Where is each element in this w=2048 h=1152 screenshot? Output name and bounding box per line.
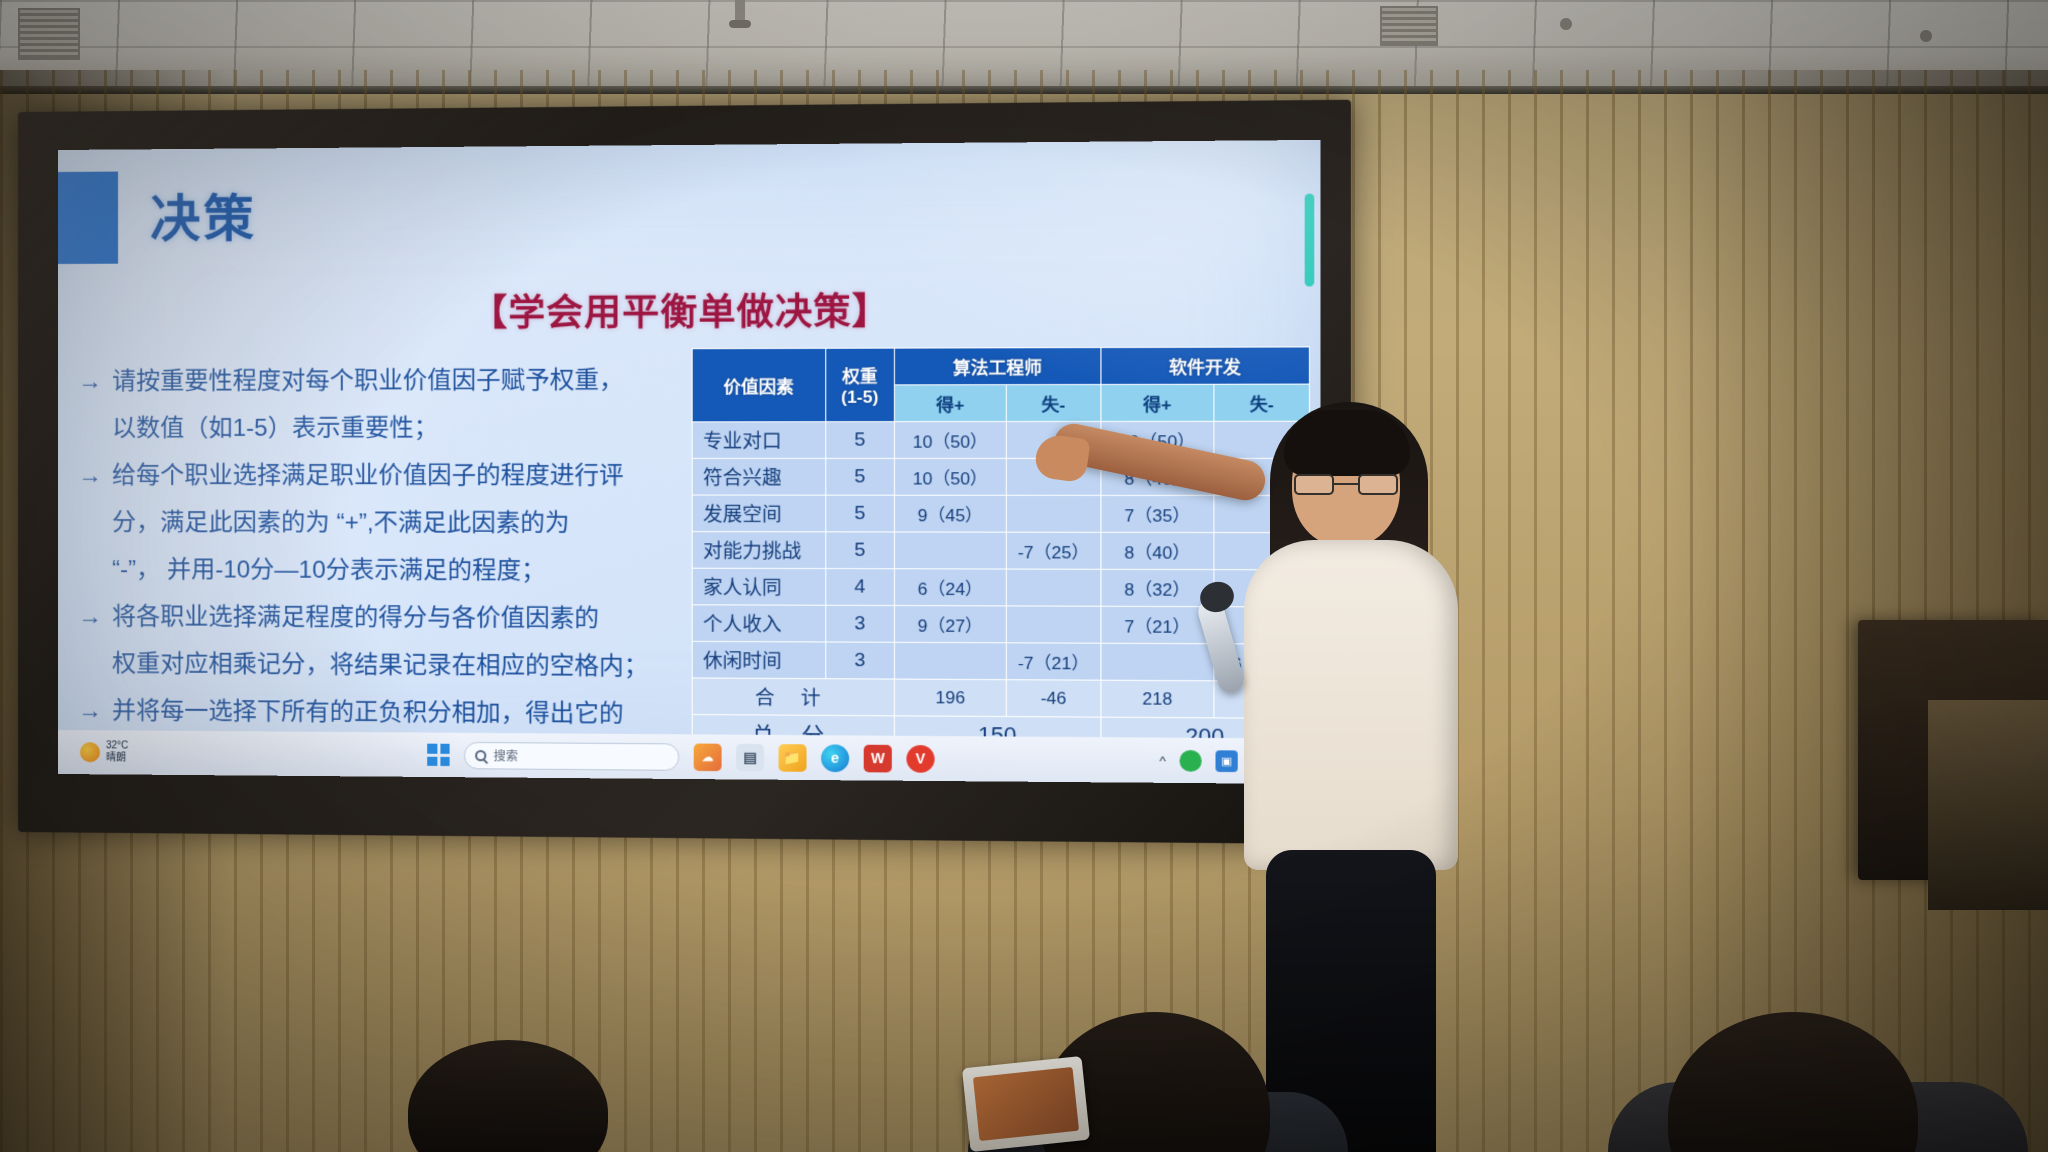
col-subheader-b-gain: 得+ <box>1101 384 1214 421</box>
cell-a-loss: -7（21） <box>1006 643 1101 680</box>
col-header-weight-range: (1-5) <box>826 387 894 408</box>
bullet-line: 以数值（如1-5）表示重要性； <box>78 404 688 452</box>
taskbar-center-group[interactable]: 搜索 ☁ ▤ 📁 e W V <box>427 741 934 772</box>
sprinkler-head <box>735 0 745 26</box>
ceiling-vent <box>18 8 80 60</box>
bullet-line: 给每个职业选择满足职业价值因子的程度进行评 <box>112 452 624 500</box>
side-wall-panel-secondary <box>1928 700 2048 910</box>
col-header-weight-label: 权重 <box>826 362 894 388</box>
ceiling-fixture <box>1920 30 1932 42</box>
cell-weight: 4 <box>825 569 894 606</box>
cell-factor: 家人认同 <box>692 568 825 605</box>
cell-factor: 对能力挑战 <box>692 532 825 569</box>
hair-fringe <box>1284 410 1410 476</box>
ceiling-vent <box>1380 6 1438 46</box>
cell-a-gain <box>894 532 1006 569</box>
cell-a-loss <box>1006 495 1101 532</box>
weather-temperature: 32°C <box>106 740 128 752</box>
file-explorer-icon[interactable]: 📁 <box>779 744 807 772</box>
search-placeholder: 搜索 <box>493 747 518 764</box>
subtotal-a-gain: 196 <box>894 679 1006 716</box>
cell-weight: 5 <box>825 532 894 569</box>
taskbar-weather-widget[interactable]: 32°C 晴朗 <box>80 740 128 764</box>
arrow-icon: → <box>78 593 112 640</box>
cell-a-gain: 6（24） <box>894 569 1006 606</box>
cell-b-gain <box>1101 643 1214 681</box>
table-row: 对能力挑战 5 -7（25） 8（40） <box>692 532 1309 570</box>
cell-b-gain: 8（32） <box>1101 569 1214 606</box>
sun-icon <box>80 742 100 762</box>
cell-b-gain: 7（35） <box>1101 495 1214 532</box>
cell-a-loss <box>1006 569 1101 606</box>
arrow-icon: → <box>78 687 112 734</box>
cell-weight: 5 <box>825 458 894 495</box>
slide-subtitle: 【学会用平衡单做决策】 <box>58 280 1321 338</box>
bullet-line: 将各职业选择满足程度的得分与各价值因素的 <box>112 593 599 642</box>
col-header-option-b: 软件开发 <box>1101 347 1310 385</box>
start-windows-icon[interactable] <box>427 744 449 766</box>
search-icon <box>475 750 486 761</box>
subtotal-a-loss: -46 <box>1006 680 1101 717</box>
cell-a-gain: 9（45） <box>894 495 1006 532</box>
table-subtotal-row: 合 计 196 -46 218 -18 <box>692 678 1309 719</box>
search-input[interactable]: 搜索 <box>464 741 679 770</box>
classroom-scene: 决策 【学会用平衡单做决策】 → 请按重要性程度对每个职业价值因子赋予权重， 以… <box>0 0 2048 1152</box>
col-header-factor: 价值因素 <box>692 348 825 422</box>
video-app-icon[interactable]: V <box>906 745 934 773</box>
cell-weight: 5 <box>825 422 894 459</box>
cell-factor: 个人收入 <box>692 605 825 642</box>
audience-tablet-device <box>962 1056 1090 1152</box>
list-item: → 给每个职业选择满足职业价值因子的程度进行评 <box>78 452 688 500</box>
cell-a-gain <box>894 642 1006 679</box>
col-header-option-a: 算法工程师 <box>894 348 1100 385</box>
bullet-line: 请按重要性程度对每个职业价值因子赋予权重， <box>112 356 624 404</box>
cell-factor: 专业对口 <box>692 422 825 459</box>
table-header-row-1: 价值因素 权重 (1-5) 算法工程师 软件开发 <box>692 347 1309 385</box>
cell-factor: 休闲时间 <box>692 641 825 678</box>
widgets-icon[interactable]: ☁ <box>694 743 722 771</box>
arrow-icon: → <box>78 358 112 405</box>
presenter-person <box>1222 420 1542 1152</box>
bullet-list: → 请按重要性程度对每个职业价值因子赋予权重， 以数值（如1-5）表示重要性； … <box>78 356 688 784</box>
wall-shadow-right <box>1668 70 2048 1152</box>
task-view-icon[interactable]: ▤ <box>736 743 764 771</box>
bullet-line: “-”， 并用-10分—10分表示满足的程度； <box>78 546 688 595</box>
balance-sheet-table[interactable]: 价值因素 权重 (1-5) 算法工程师 软件开发 得+ 失- 得+ <box>692 346 1310 756</box>
arrow-icon: → <box>78 452 112 499</box>
title-accent-block <box>58 172 118 264</box>
edge-browser-icon[interactable]: e <box>821 744 849 772</box>
col-subheader-b-loss: 失- <box>1214 384 1310 421</box>
show-hidden-icons-chevron[interactable]: ^ <box>1159 752 1165 767</box>
cell-factor: 发展空间 <box>692 495 825 532</box>
col-header-weight: 权重 (1-5) <box>825 348 894 422</box>
cell-a-loss <box>1006 606 1101 643</box>
ceiling-fixture <box>1560 18 1572 30</box>
torso <box>1244 540 1458 870</box>
tray-green-icon[interactable] <box>1179 750 1201 772</box>
cell-a-gain: 9（27） <box>894 606 1006 643</box>
wps-office-icon[interactable]: W <box>864 744 892 772</box>
cell-b-gain: 8（40） <box>1101 532 1214 569</box>
bullet-line: 分，满足此因素的为 “+”,不满足此因素的为 <box>78 499 688 547</box>
table-row: 发展空间 5 9（45） 7（35） <box>692 495 1309 533</box>
list-item: → 请按重要性程度对每个职业价值因子赋予权重， <box>78 356 688 405</box>
slide-title: 决策 <box>150 179 257 252</box>
subtotal-label: 合 计 <box>692 678 894 716</box>
cell-a-loss: -7（25） <box>1006 532 1101 569</box>
list-item: → 将各职业选择满足程度的得分与各价值因素的 <box>78 593 688 643</box>
cell-weight: 3 <box>825 642 894 679</box>
cell-weight: 3 <box>825 605 894 642</box>
eyeglasses <box>1294 474 1398 496</box>
scrollbar-thumb[interactable] <box>1305 194 1315 287</box>
weather-condition: 晴朗 <box>106 752 128 764</box>
cell-weight: 5 <box>825 495 894 532</box>
cell-a-gain: 10（50） <box>894 458 1006 495</box>
col-subheader-a-loss: 失- <box>1006 384 1101 421</box>
cell-a-gain: 10（50） <box>894 422 1006 459</box>
subtotal-b-gain: 218 <box>1101 680 1214 718</box>
cell-factor: 符合兴趣 <box>692 458 825 495</box>
col-subheader-a-gain: 得+ <box>894 385 1006 422</box>
table-header: 价值因素 权重 (1-5) 算法工程师 软件开发 得+ 失- 得+ <box>692 347 1309 422</box>
bullet-line: 权重对应相乘记分，将结果记录在相应的空格内； <box>78 640 688 691</box>
cell-b-gain: 7（21） <box>1101 606 1214 643</box>
